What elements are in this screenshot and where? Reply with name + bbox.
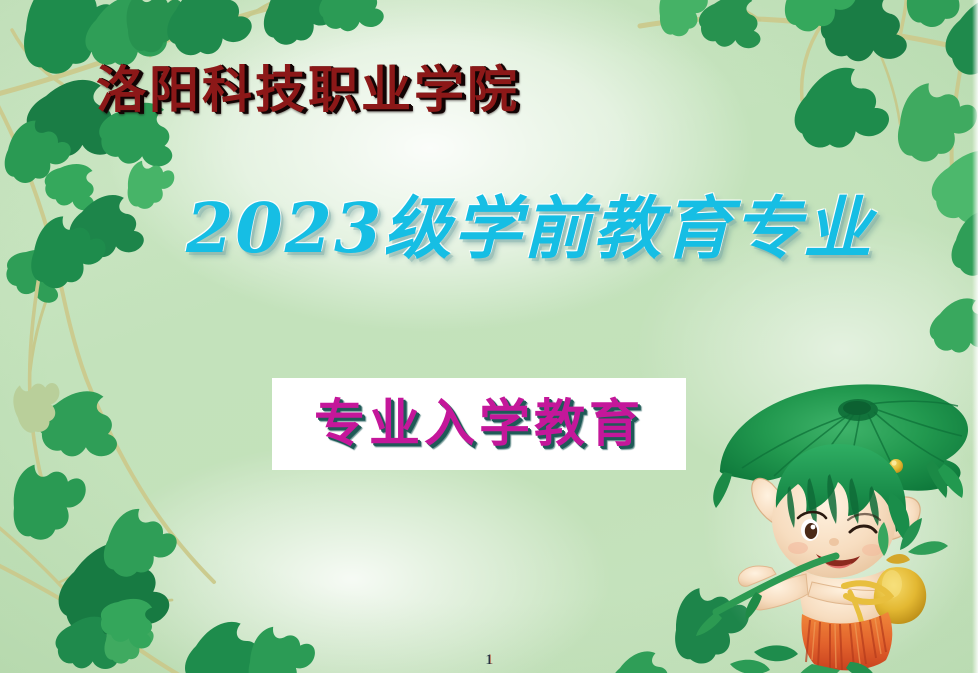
page-title: 2023级学前教育专业 (186, 190, 873, 268)
right-edge-strip (972, 0, 978, 673)
school-name-title: 洛阳科技职业学院 (96, 62, 520, 117)
subtitle-text: 专业入学教育 (314, 399, 644, 450)
subtitle-highlight-box: 专业入学教育 (272, 378, 686, 470)
page-number: 1 (0, 652, 978, 669)
presentation-slide: 洛阳科技职业学院 2023级学前教育专业 专业入学教育 (0, 0, 978, 673)
